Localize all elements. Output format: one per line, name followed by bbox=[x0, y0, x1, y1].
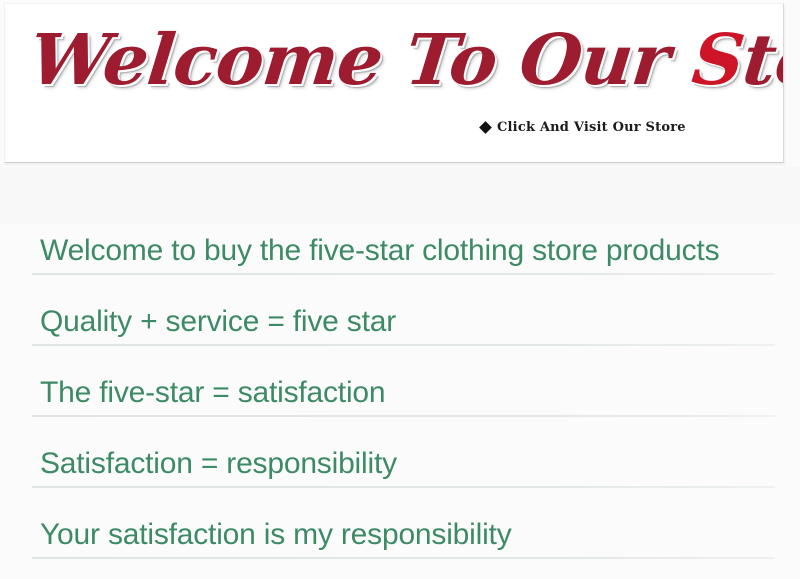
diamond-icon bbox=[479, 121, 492, 134]
banner-title-suffix: tore bbox=[739, 18, 784, 101]
list-item: Welcome to buy the five-star clothing st… bbox=[0, 224, 800, 295]
message-divider bbox=[32, 557, 775, 559]
message-divider bbox=[32, 344, 775, 346]
message-text: Satisfaction = responsibility bbox=[40, 445, 397, 483]
banner-title: Welcome To Our Store bbox=[25, 14, 769, 106]
list-item: The five-star = satisfaction bbox=[0, 366, 800, 437]
message-text: The five-star = satisfaction bbox=[40, 374, 385, 412]
message-text: Quality + service = five star bbox=[40, 303, 396, 341]
visit-store-cta[interactable]: Click And Visit Our Store bbox=[481, 120, 686, 135]
message-divider bbox=[32, 486, 775, 488]
visit-store-cta-label: Click And Visit Our Store bbox=[497, 120, 686, 135]
list-item: Your satisfaction is my responsibility bbox=[0, 508, 800, 579]
banner-spacer bbox=[0, 167, 800, 224]
store-banner[interactable]: Welcome To Our Store Click And Visit Our… bbox=[4, 3, 784, 163]
message-text: Welcome to buy the five-star clothing st… bbox=[40, 232, 719, 270]
list-item: Satisfaction = responsibility bbox=[0, 437, 800, 508]
message-divider bbox=[32, 415, 775, 417]
banner-title-highlight: S bbox=[688, 18, 747, 101]
store-message-list: Welcome to buy the five-star clothing st… bbox=[0, 224, 800, 579]
list-item: Quality + service = five star bbox=[0, 295, 800, 366]
banner-title-prefix: Welcome To Our bbox=[26, 18, 697, 101]
store-listing-page: Welcome To Our Store Click And Visit Our… bbox=[0, 0, 800, 561]
message-divider bbox=[32, 273, 775, 275]
message-text: Your satisfaction is my responsibility bbox=[40, 516, 512, 554]
